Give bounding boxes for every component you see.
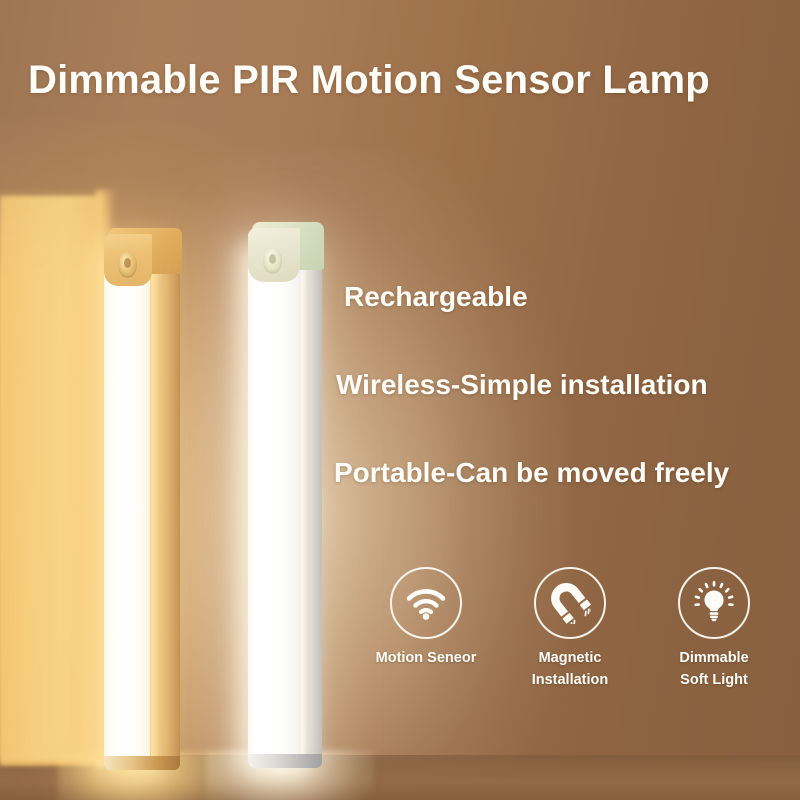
lamp-warm-light-panel <box>104 254 150 766</box>
feature-line-portable: Portable-Can be moved freely <box>334 459 792 487</box>
page-title: Dimmable PIR Motion Sensor Lamp <box>28 58 710 103</box>
warm-light-wall-wash-inner <box>0 196 104 762</box>
feature-line-rechargeable: Rechargeable <box>344 283 792 311</box>
lamp-warm-pir-sensor-lens <box>124 258 131 268</box>
lamp-cool-pir-sensor-lens <box>269 254 276 264</box>
lamp-warm-body-side-highlight <box>151 238 159 764</box>
motion-sensor-icon-circle <box>390 567 462 639</box>
lamp-cool-light-panel <box>248 252 300 764</box>
lamp-cool-base <box>248 754 322 768</box>
light-bulb-icon <box>692 581 736 625</box>
feature-list: Rechargeable Wireless-Simple installatio… <box>336 283 792 487</box>
lamp-warm-base <box>104 756 180 770</box>
magnetic-icon-circle <box>534 567 606 639</box>
product-lamp-cool-white <box>248 222 322 768</box>
motion-sensor-label: Motion Seneor <box>376 648 477 670</box>
feature-line-wireless: Wireless-Simple installation <box>336 371 792 399</box>
dimmable-soft-light-label: Dimmable Soft Light <box>679 648 748 692</box>
icon-feature-motion-sensor: Motion Seneor <box>360 567 492 670</box>
icon-feature-dimmable-soft-light: Dimmable Soft Light <box>648 567 780 692</box>
product-promo-image: Dimmable PIR Motion Sensor Lamp Recharge… <box>0 0 800 800</box>
product-lamp-warm-gold <box>104 228 182 768</box>
magnet-icon <box>549 582 591 624</box>
icon-feature-row: Motion Seneor <box>360 567 780 692</box>
icon-feature-magnetic-installation: Magnetic Installation <box>504 567 636 692</box>
dimmable-icon-circle <box>678 567 750 639</box>
magnetic-installation-label: Magnetic Installation <box>532 648 609 692</box>
lamp-cool-body-side-highlight <box>301 236 307 762</box>
wifi-motion-icon <box>405 586 447 620</box>
